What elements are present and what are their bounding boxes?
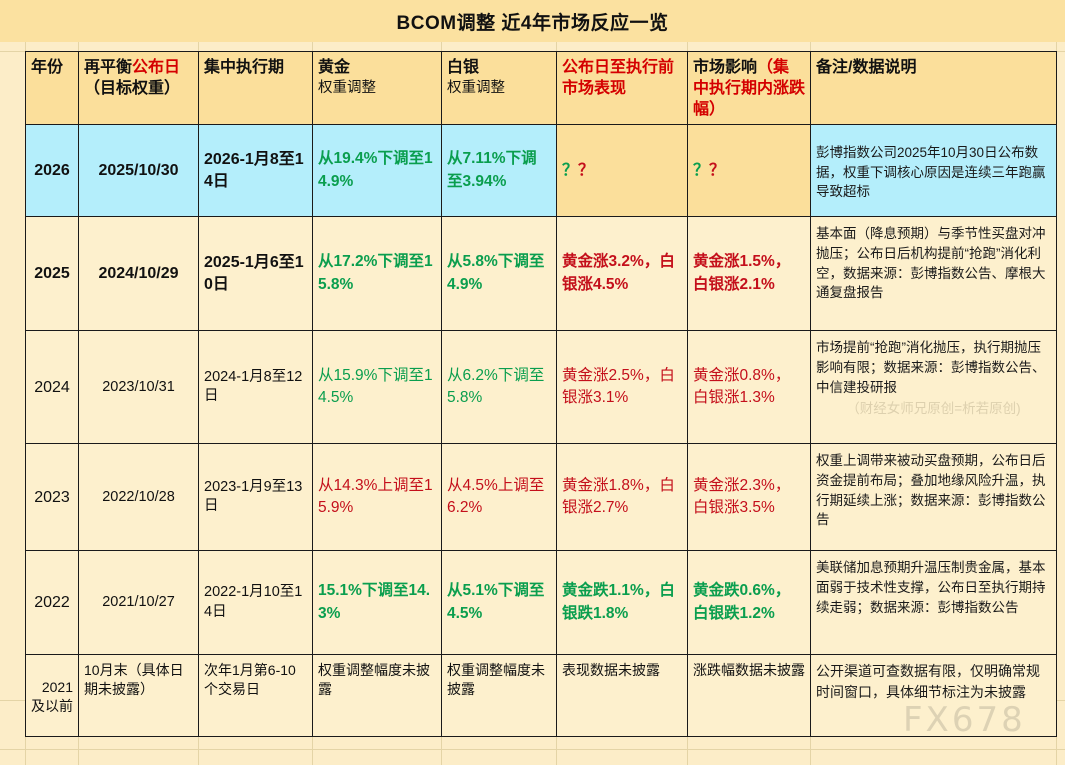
cell-gold-weight: 从19.4%下调至14.9%	[313, 125, 442, 217]
cell-silver-weight: 从4.5%上调至6.2%	[442, 444, 557, 551]
cell-gold-weight: 15.1%下调至14.3%	[313, 551, 442, 655]
table-header-row: 年份 再平衡公布日（目标权重） 集中执行期 黄金 权重调整 白银 权重调整 公布…	[26, 52, 1057, 125]
cell-pre-performance: 黄金跌1.1%，白银跌1.8%	[557, 551, 688, 655]
cell-year: 2026	[26, 125, 79, 217]
table-row: 2022 2021/10/27 2022-1月10至14日 15.1%下调至14…	[26, 551, 1057, 655]
cell-pre-performance: 黄金涨3.2%，白银涨4.5%	[557, 217, 688, 331]
cell-execution-window: 2024-1月8至12日	[199, 331, 313, 444]
table-row: 2025 2024/10/29 2025-1月6至10日 从17.2%下调至15…	[26, 217, 1057, 331]
header-year: 年份	[26, 52, 79, 125]
cell-silver-weight: 从5.8%下调至4.9%	[442, 217, 557, 331]
cell-note: 基本面（降息预期）与季节性买盘对冲抛压；公布日后机构提前“抢跑”消化利空，数据来…	[811, 217, 1057, 331]
cell-market-impact: 黄金跌0.6%，白银跌1.2%	[688, 551, 811, 655]
cell-announce-date: 2023/10/31	[79, 331, 199, 444]
cell-gold-weight: 权重调整幅度未披露	[313, 655, 442, 737]
cell-execution-window: 2022-1月10至14日	[199, 551, 313, 655]
header-notes: 备注/数据说明	[811, 52, 1057, 125]
cell-note-text: 市场提前“抢跑”消化抛压，执行期抛压影响有限；数据来源：彭博指数公告、中信建投研…	[816, 340, 1046, 394]
cell-note: 市场提前“抢跑”消化抛压，执行期抛压影响有限；数据来源：彭博指数公告、中信建投研…	[811, 331, 1057, 444]
header-silver: 白银 权重调整	[442, 52, 557, 125]
cell-year: 2021及以前	[26, 655, 79, 737]
cell-market-impact: 黄金涨0.8%，白银涨1.3%	[688, 331, 811, 444]
cell-pre-performance: 黄金涨1.8%，白银涨2.7%	[557, 444, 688, 551]
cell-execution-window: 2026-1月8至14日	[199, 125, 313, 217]
cell-pre-performance: 表现数据未披露	[557, 655, 688, 737]
cell-pre-performance: 黄金涨2.5%，白银涨3.1%	[557, 331, 688, 444]
cell-year: 2023	[26, 444, 79, 551]
cell-year: 2025	[26, 217, 79, 331]
cell-note: 美联储加息预期升温压制贵金属，基本面弱于技术性支撑，公布日至执行期持续走弱；数据…	[811, 551, 1057, 655]
page-title-bar: BCOM调整 近4年市场反应一览	[0, 0, 1065, 42]
header-pre-execution-performance: 公布日至执行前市场表现	[557, 52, 688, 125]
cell-market-impact: ？？	[688, 125, 811, 217]
cell-pre-performance: ？？	[557, 125, 688, 217]
cell-announce-date: 2022/10/28	[79, 444, 199, 551]
header-execution-window: 集中执行期	[199, 52, 313, 125]
cell-execution-window: 次年1月第6-10个交易日	[199, 655, 313, 737]
header-announce-date: 再平衡公布日（目标权重）	[79, 52, 199, 125]
cell-execution-window: 2023-1月9至13日	[199, 444, 313, 551]
cell-note: 公开渠道可查数据有限，仅明确常规时间窗口，具体细节标注为未披露	[811, 655, 1057, 737]
cell-gold-weight: 从14.3%上调至15.9%	[313, 444, 442, 551]
cell-gold-weight: 从15.9%下调至14.5%	[313, 331, 442, 444]
page-title: BCOM调整 近4年市场反应一览	[397, 8, 669, 35]
cell-gold-weight: 从17.2%下调至15.8%	[313, 217, 442, 331]
cell-announce-date: 2021/10/27	[79, 551, 199, 655]
cell-silver-weight: 从6.2%下调至5.8%	[442, 331, 557, 444]
cell-note: 权重上调带来被动买盘预期，公布日后资金提前布局；叠加地缘风险升温，执行期延续上涨…	[811, 444, 1057, 551]
cell-market-impact: 黄金涨1.5%，白银涨2.1%	[688, 217, 811, 331]
table-row: 2021及以前 10月末（具体日期未披露） 次年1月第6-10个交易日 权重调整…	[26, 655, 1057, 737]
market-reaction-table: 年份 再平衡公布日（目标权重） 集中执行期 黄金 权重调整 白银 权重调整 公布…	[25, 51, 1057, 737]
inline-watermark: （财经女师兄原创=析若原创)	[816, 399, 1051, 419]
cell-note: 彭博指数公司2025年10月30日公布数据，权重下调核心原因是连续三年跑赢导致超…	[811, 125, 1057, 217]
cell-market-impact: 黄金涨2.3%，白银涨3.5%	[688, 444, 811, 551]
cell-market-impact: 涨跌幅数据未披露	[688, 655, 811, 737]
cell-announce-date: 2024/10/29	[79, 217, 199, 331]
cell-announce-date: 10月末（具体日期未披露）	[79, 655, 199, 737]
cell-year: 2024	[26, 331, 79, 444]
cell-announce-date: 2025/10/30	[79, 125, 199, 217]
cell-silver-weight: 从7.11%下调至3.94%	[442, 125, 557, 217]
cell-execution-window: 2025-1月6至10日	[199, 217, 313, 331]
cell-silver-weight: 从5.1%下调至4.5%	[442, 551, 557, 655]
cell-year: 2022	[26, 551, 79, 655]
header-market-impact: 市场影响（集中执行期内涨跌幅）	[688, 52, 811, 125]
table-row: 2023 2022/10/28 2023-1月9至13日 从14.3%上调至15…	[26, 444, 1057, 551]
header-gold: 黄金 权重调整	[313, 52, 442, 125]
table-row: 2024 2023/10/31 2024-1月8至12日 从15.9%下调至14…	[26, 331, 1057, 444]
cell-silver-weight: 权重调整幅度未披露	[442, 655, 557, 737]
market-reaction-table-wrapper: 年份 再平衡公布日（目标权重） 集中执行期 黄金 权重调整 白银 权重调整 公布…	[25, 51, 1056, 737]
table-row: 2026 2025/10/30 2026-1月8至14日 从19.4%下调至14…	[26, 125, 1057, 217]
